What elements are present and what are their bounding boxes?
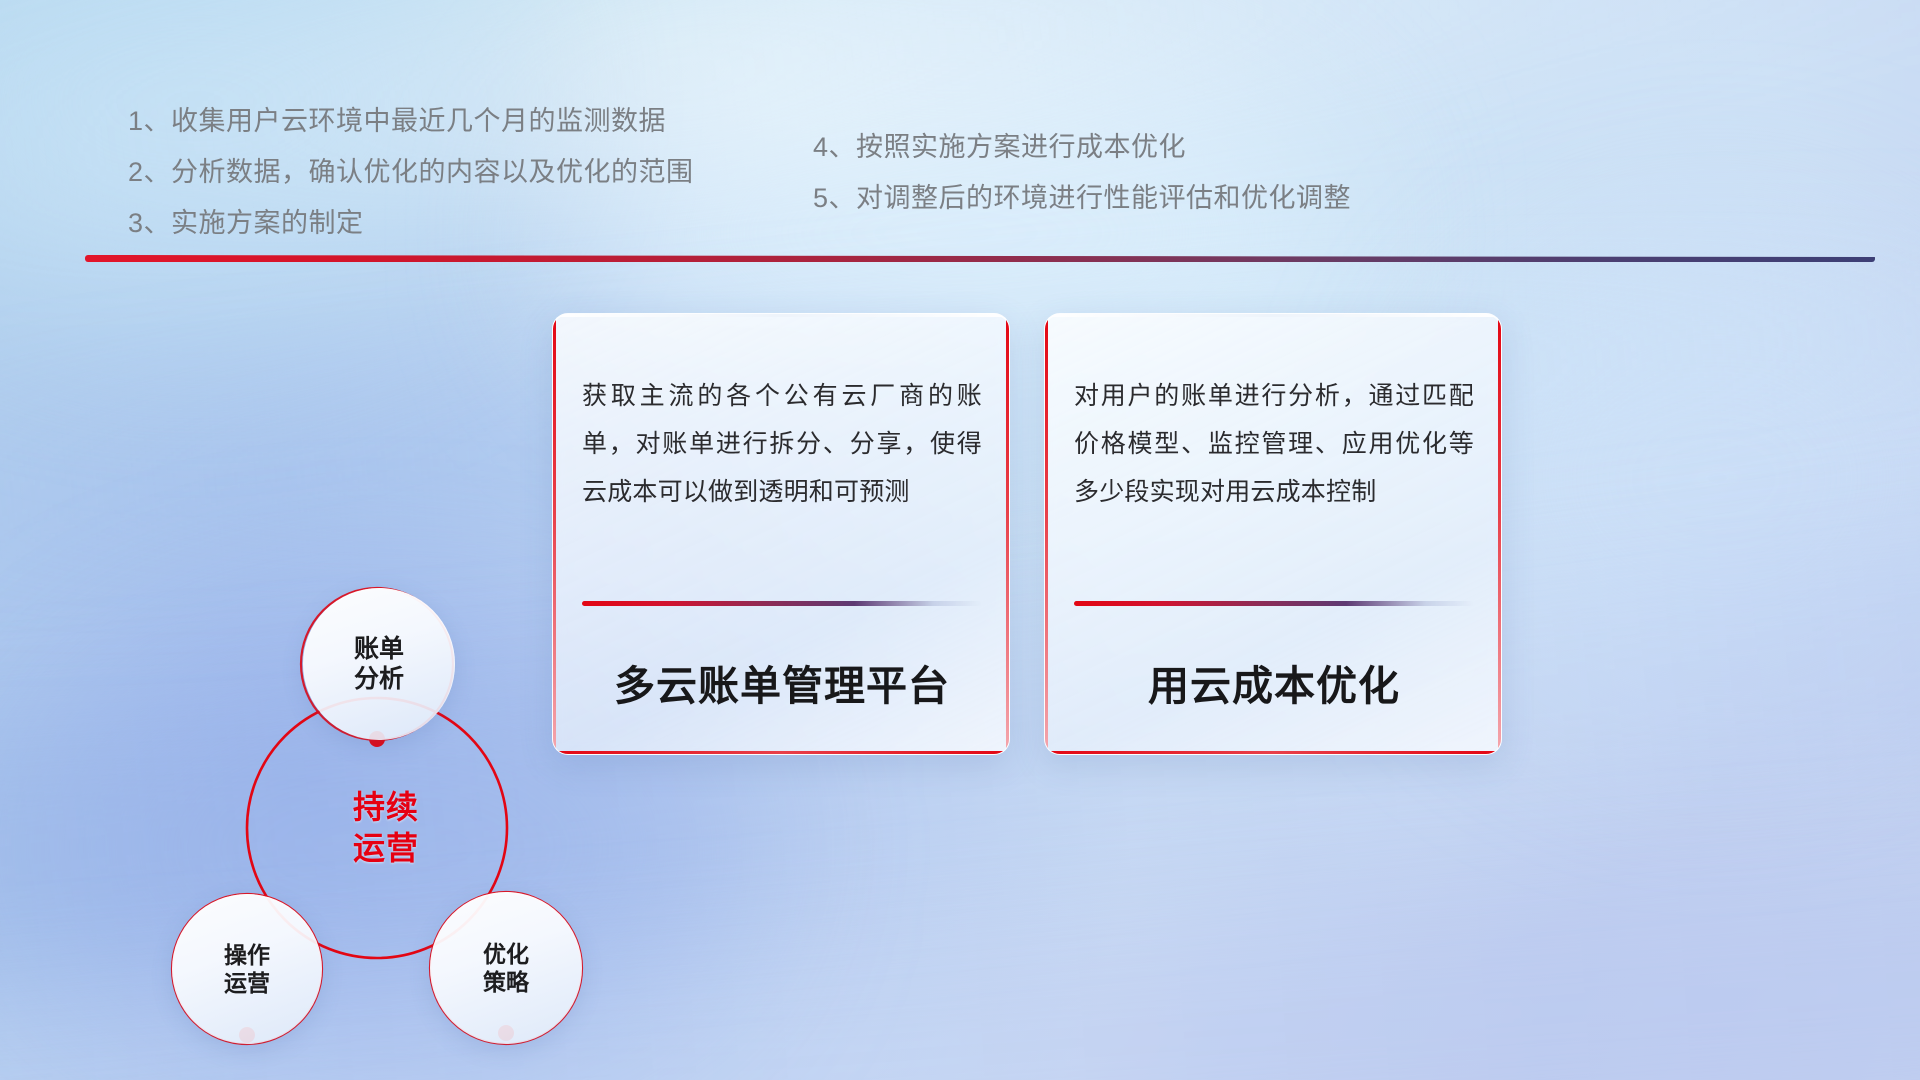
bubble-label: 操作运营	[224, 941, 270, 997]
bubble-optimization-strategy[interactable]: 优化策略	[430, 892, 582, 1044]
card-multi-cloud-billing-platform[interactable]: 获取主流的各个公有云厂商的账单，对账单进行拆分、分享，使得云成本可以做到透明和可…	[552, 313, 1010, 755]
step-item-3: 3、实施方案的制定	[128, 201, 364, 240]
card-accent-rule	[1074, 601, 1474, 606]
diagram-center-label: 持续 运营	[331, 787, 441, 869]
card-top-edge	[1045, 314, 1501, 317]
center-label-line-1: 持续	[331, 787, 441, 828]
step-item-5: 5、对调整后的环境进行性能评估和优化调整	[813, 176, 1351, 215]
bubble-label: 优化策略	[483, 940, 529, 996]
card-body-text: 对用户的账单进行分析，通过匹配价格模型、监控管理、应用优化等多少段实现对用云成本…	[1074, 372, 1474, 516]
card-title: 多云账单管理平台	[582, 652, 982, 712]
slide-canvas: 1、收集用户云环境中最近几个月的监测数据 2、分析数据，确认优化的内容以及优化的…	[0, 0, 1920, 1080]
section-divider	[85, 255, 1875, 262]
card-cloud-cost-optimization[interactable]: 对用户的账单进行分析，通过匹配价格模型、监控管理、应用优化等多少段实现对用云成本…	[1044, 313, 1502, 755]
card-top-edge	[553, 314, 1009, 317]
step-item-1: 1、收集用户云环境中最近几个月的监测数据	[128, 99, 666, 138]
step-item-2: 2、分析数据，确认优化的内容以及优化的范围	[128, 150, 694, 189]
center-label-line-2: 运营	[331, 828, 441, 869]
step-item-4: 4、按照实施方案进行成本优化	[813, 125, 1186, 164]
card-bottom-edge	[1045, 751, 1501, 754]
card-body-text: 获取主流的各个公有云厂商的账单，对账单进行拆分、分享，使得云成本可以做到透明和可…	[582, 372, 982, 516]
card-bottom-edge	[553, 751, 1009, 754]
bubble-operation[interactable]: 操作运营	[172, 894, 322, 1044]
card-title: 用云成本优化	[1074, 652, 1474, 712]
card-accent-rule	[582, 601, 982, 606]
bubble-bill-analysis[interactable]: 账单分析	[303, 588, 455, 740]
continuous-operation-diagram: 账单分析 操作运营 优化策略 持续 运营	[80, 290, 550, 770]
bubble-label: 账单分析	[354, 634, 404, 695]
divider-bar	[85, 255, 1875, 262]
